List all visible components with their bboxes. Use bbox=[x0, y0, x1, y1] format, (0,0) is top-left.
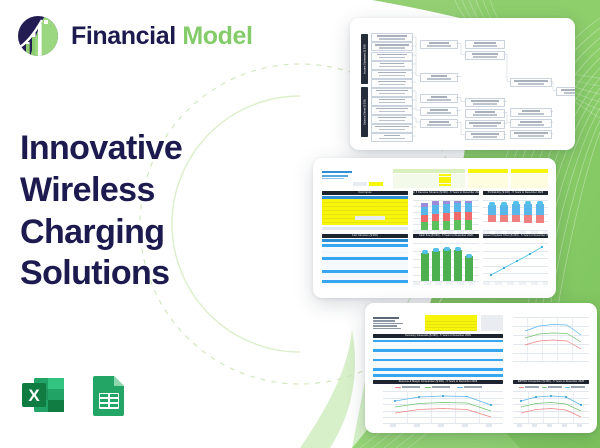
summary-row-highlight bbox=[373, 340, 503, 343]
revenue-margin-chart bbox=[383, 391, 503, 423]
financial-dashboard-preview[interactable]: Cost Inputs Cost Structure ($ 000) Top 5… bbox=[313, 158, 556, 298]
report-subtitle bbox=[373, 320, 395, 322]
dupont-ratio-tree-preview[interactable]: Income Statement ($ 000) Balance Sheet (… bbox=[350, 18, 575, 150]
summary-row-highlight bbox=[373, 349, 503, 352]
report-subtitle bbox=[373, 323, 403, 325]
cost-structure-rows bbox=[322, 242, 408, 285]
cost-structure-highlight bbox=[322, 244, 408, 247]
profitability-chart-title: Profitability ($ 000) - 5 Years to Decem… bbox=[483, 191, 548, 195]
cashflow-chart bbox=[413, 243, 479, 281]
summary-row-highlight bbox=[373, 359, 503, 362]
revenue-streams-chart bbox=[413, 200, 479, 230]
legend-label bbox=[571, 386, 585, 388]
metrics-panel-header bbox=[511, 169, 548, 173]
ebitda-xaxis bbox=[513, 424, 589, 427]
headline-line-2: Wireless bbox=[20, 170, 250, 212]
cost-structure-highlight bbox=[322, 280, 408, 283]
cost-inputs-header: Cost Inputs bbox=[322, 191, 408, 195]
summary-row-highlight bbox=[373, 368, 503, 371]
revenue-margin-xaxis bbox=[383, 424, 503, 427]
ebitda-top-chart bbox=[513, 317, 589, 361]
assumptions-input[interactable] bbox=[439, 180, 451, 182]
cost-inputs-greyed bbox=[355, 216, 385, 220]
cost-structure-highlight bbox=[322, 257, 408, 260]
payback-chart bbox=[483, 243, 548, 281]
brand-name: Financial Model bbox=[71, 24, 253, 49]
report-title bbox=[373, 317, 399, 319]
legend-label bbox=[402, 386, 420, 388]
revenue-margin-chart-title: Revenue & Margin Comparison ($ 000) - 5 … bbox=[373, 380, 503, 384]
ebitda-chart bbox=[513, 391, 589, 423]
assumptions-rows bbox=[393, 174, 465, 188]
payback-xaxis bbox=[483, 282, 548, 285]
dashboard-input-cell[interactable] bbox=[369, 182, 383, 186]
value-callout bbox=[433, 248, 439, 252]
brand-name-part2: Model bbox=[182, 22, 252, 50]
legend-chip-moderate bbox=[542, 387, 547, 389]
value-callout bbox=[513, 201, 519, 205]
assumptions-panel bbox=[393, 169, 465, 173]
assumptions-input[interactable] bbox=[439, 177, 451, 179]
dashboard-subtitle bbox=[322, 175, 348, 177]
cost-inputs-total bbox=[322, 227, 408, 230]
cost-structure-header: Cost Structure ($ 000) bbox=[322, 234, 408, 238]
slide-canvas: Financial Model Innovative Wireless Char… bbox=[0, 0, 600, 448]
ebitda-chart-title: EBITDA Comparison ($ 000) - 5 Years to D… bbox=[513, 380, 589, 384]
legend-chip-best bbox=[457, 387, 463, 389]
google-sheets-icon bbox=[86, 372, 132, 418]
cashflow-chart-title: Cash flow ($ 000) - 5 Years to December … bbox=[413, 234, 479, 238]
brand-logo: Financial Model bbox=[16, 14, 253, 58]
legend-chip-cost bbox=[395, 387, 401, 389]
legend-label bbox=[525, 386, 539, 388]
report-input-rowlines bbox=[425, 315, 477, 331]
dashboard-sub2 bbox=[322, 178, 344, 180]
headline-line-4: Solutions bbox=[20, 253, 250, 295]
brand-name-part1: Financial bbox=[71, 22, 176, 50]
assumptions-input[interactable] bbox=[439, 174, 451, 176]
report-readonly-cells bbox=[481, 315, 503, 331]
value-callout bbox=[422, 250, 428, 254]
legend-chip-moderate bbox=[425, 387, 431, 389]
legend-chip-best bbox=[565, 387, 570, 389]
diagram-connectors bbox=[350, 18, 575, 150]
value-callout bbox=[444, 247, 450, 251]
format-badges: X bbox=[20, 372, 132, 418]
report-subtitle bbox=[373, 325, 397, 327]
kpi-panel-rows bbox=[468, 174, 508, 188]
value-callout bbox=[501, 202, 507, 206]
svg-text:X: X bbox=[28, 386, 40, 405]
financial-model-circle-chart-logo bbox=[16, 14, 60, 58]
cost-inputs-rowlines bbox=[322, 199, 408, 225]
legend-label bbox=[464, 386, 482, 388]
cost-structure-highlight bbox=[322, 270, 408, 273]
revenue-streams-chart-title: Top 5 Revenue Streams ($ 000) - 5 Years … bbox=[413, 191, 479, 195]
dashboard-selector[interactable] bbox=[353, 182, 367, 186]
payback-chart-title: Investment Payback Chart ($ 000) - 5 Yea… bbox=[483, 234, 548, 238]
microsoft-excel-icon: X bbox=[20, 372, 66, 418]
profitability-chart bbox=[483, 200, 548, 230]
headline-line-3: Charging bbox=[20, 212, 250, 254]
value-callout bbox=[455, 247, 461, 251]
metrics-panel-rows bbox=[511, 174, 548, 188]
financial-statements-report-preview[interactable]: Summary Financials ($ 000) - 5 Years to … bbox=[365, 303, 597, 433]
value-callout bbox=[489, 202, 495, 206]
value-callout bbox=[466, 254, 472, 258]
legend-chip-cost bbox=[519, 387, 524, 389]
legend-label bbox=[548, 386, 562, 388]
assumptions-input[interactable] bbox=[439, 184, 451, 186]
report-subtitle bbox=[373, 328, 401, 330]
summary-financials-header: Summary Financials ($ 000) - 5 Years to … bbox=[373, 334, 503, 338]
value-callout bbox=[525, 201, 531, 205]
value-callout bbox=[537, 201, 543, 205]
dashboard-title bbox=[322, 171, 352, 173]
summary-row-highlight bbox=[373, 374, 503, 377]
cashflow-xaxis bbox=[413, 282, 479, 285]
page-title: Innovative Wireless Charging Solutions bbox=[20, 128, 250, 295]
kpi-panel-header bbox=[468, 169, 508, 173]
headline-line-1: Innovative bbox=[20, 128, 250, 170]
legend-label bbox=[432, 386, 450, 388]
